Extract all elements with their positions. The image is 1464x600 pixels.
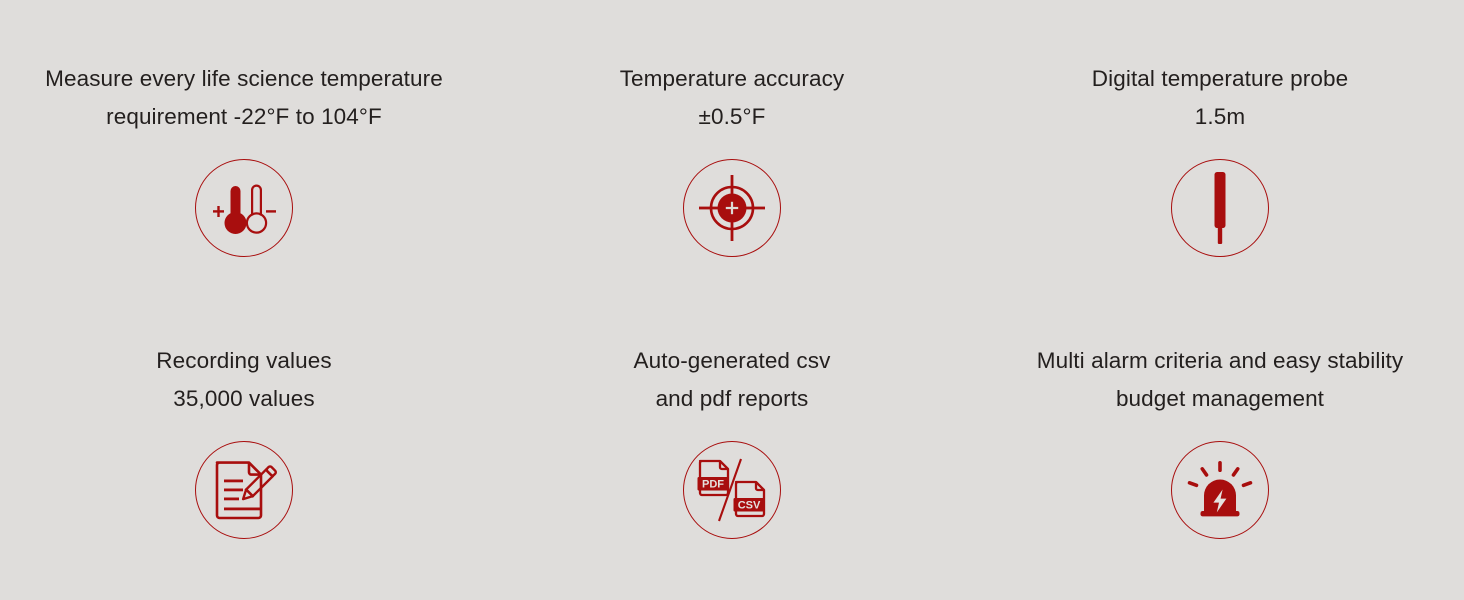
document-pencil-icon [211, 457, 277, 523]
feature-text-line2: budget management [1116, 380, 1324, 418]
feature-card-temperature-accuracy: Temperature accuracy ±0.5°F [488, 0, 976, 300]
feature-text-line1: Measure every life science temperature [45, 60, 443, 98]
icon-badge-reports: PDF CSV [683, 441, 781, 539]
pdf-label: PDF [702, 478, 724, 490]
feature-text-line2: 1.5m [1195, 98, 1245, 136]
feature-text-line2: ±0.5°F [699, 98, 766, 136]
icon-badge-probe [1171, 159, 1269, 257]
feature-card-auto-reports: Auto-generated csv and pdf reports PDF [488, 300, 976, 600]
feature-text-line1: Auto-generated csv [634, 342, 831, 380]
alarm-beacon-icon [1186, 460, 1254, 520]
feature-grid: Measure every life science temperature r… [0, 0, 1464, 600]
feature-card-temperature-range: Measure every life science temperature r… [0, 0, 488, 300]
icon-badge-alarm [1171, 441, 1269, 539]
feature-text-line2: 35,000 values [173, 380, 314, 418]
feature-text-line1: Digital temperature probe [1092, 60, 1348, 98]
icon-badge-recording [195, 441, 293, 539]
icon-badge-thermometer [195, 159, 293, 257]
feature-text-line1: Multi alarm criteria and easy stability [1037, 342, 1404, 380]
feature-card-alarm-criteria: Multi alarm criteria and easy stability … [976, 300, 1464, 600]
target-crosshair-icon [697, 173, 767, 243]
csv-label: CSV [738, 499, 761, 511]
probe-icon [1203, 170, 1237, 246]
feature-text-line1: Temperature accuracy [620, 60, 845, 98]
feature-text-line2: requirement -22°F to 104°F [106, 98, 382, 136]
feature-card-digital-probe: Digital temperature probe 1.5m [976, 0, 1464, 300]
thermometer-icon [208, 172, 280, 244]
feature-text-line1: Recording values [156, 342, 331, 380]
pdf-csv-files-icon: PDF CSV [694, 455, 770, 525]
feature-card-recording-values: Recording values 35,000 values [0, 300, 488, 600]
feature-text-line2: and pdf reports [656, 380, 809, 418]
icon-badge-accuracy [683, 159, 781, 257]
